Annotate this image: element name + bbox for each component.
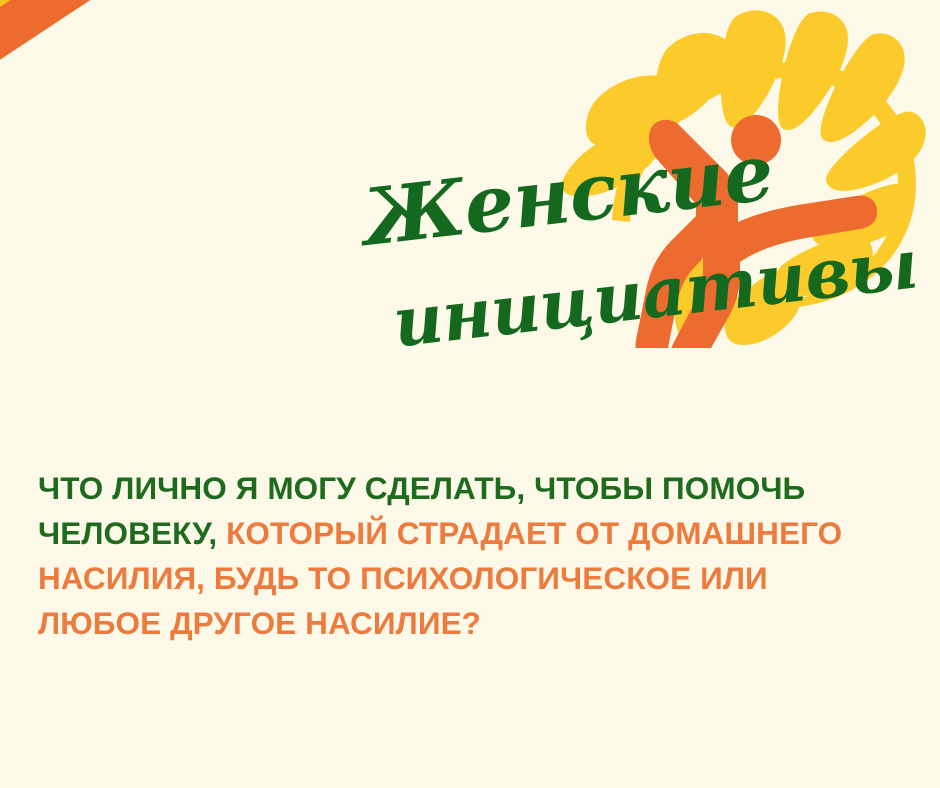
poster-canvas: Женские инициативы ЧТО ЛИЧНО Я МОГУ СДЕЛ…: [0, 0, 940, 788]
headline-segment-orange: КОТОРЫЙ СТРАДАЕТ ОТ ДОМАШНЕГО: [217, 515, 842, 551]
headline-segment-orange: НАСИЛИЯ, БУДЬ ТО ПСИХОЛОГИЧЕСКОЕ ИЛИ: [38, 560, 768, 596]
headline-segment-orange: ЛЮБОЕ ДРУГОЕ НАСИЛИЕ?: [38, 605, 481, 641]
headline-line-4: ЛЮБОЕ ДРУГОЕ НАСИЛИЕ?: [38, 601, 918, 646]
headline-line-3: НАСИЛИЯ, БУДЬ ТО ПСИХОЛОГИЧЕСКОЕ ИЛИ: [38, 556, 918, 601]
headline-segment-green: ЧТО ЛИЧНО Я МОГУ СДЕЛАТЬ, ЧТОБЫ ПОМОЧЬ: [38, 470, 805, 506]
headline-segment-green: ЧЕЛОВЕКУ,: [38, 515, 217, 551]
headline-line-1: ЧТО ЛИЧНО Я МОГУ СДЕЛАТЬ, ЧТОБЫ ПОМОЧЬ: [38, 466, 918, 511]
logo-wordmark: Женские инициативы: [352, 150, 812, 350]
campaign-question: ЧТО ЛИЧНО Я МОГУ СДЕЛАТЬ, ЧТОБЫ ПОМОЧЬЧЕ…: [38, 466, 918, 646]
headline-line-2: ЧЕЛОВЕКУ, КОТОРЫЙ СТРАДАЕТ ОТ ДОМАШНЕГО: [38, 511, 918, 556]
